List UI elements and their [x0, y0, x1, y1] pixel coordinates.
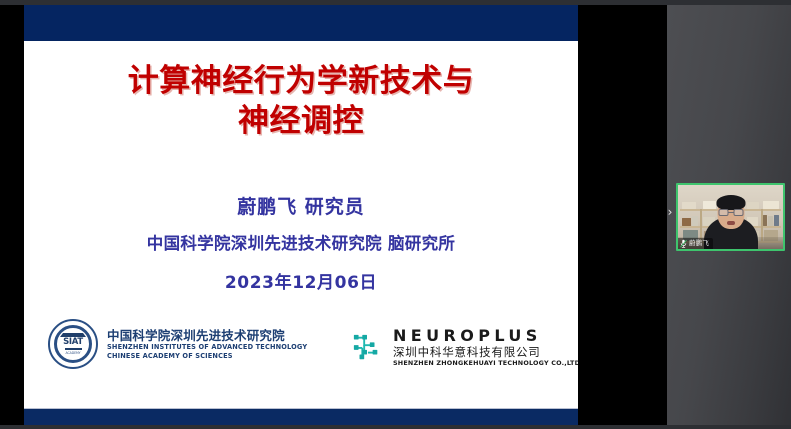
slide-byline: 蔚鹏飞 研究员 中国科学院深圳先进技术研究院 脑研究所 2023年12月06日	[24, 193, 578, 297]
siat-underbar	[65, 348, 82, 350]
neuroplus-name-cn: 深圳中科华意科技有限公司	[393, 345, 578, 359]
siat-logo: SIAT ACADEMY 中国科学院深圳先进技术研究院 SHENZHEN INS…	[48, 319, 307, 369]
neuroplus-name-en: SHENZHEN ZHONGKEHUAYI TECHNOLOGY CO.,LTD…	[393, 359, 578, 367]
siat-seal-icon: SIAT ACADEMY	[48, 319, 98, 369]
meeting-window: 计算神经行为学新技术与 神经调控 蔚鹏飞 研究员 中国科学院深圳先进技术研究院 …	[0, 0, 791, 429]
slide-bottom-band	[24, 409, 578, 425]
participant-video-tile[interactable]: 蔚鹏飞	[676, 183, 785, 251]
shelf-item	[768, 216, 773, 226]
shelf-item	[747, 202, 759, 209]
shelf-item	[682, 218, 691, 226]
slide-date: 2023年12月06日	[24, 269, 578, 297]
collapse-panel-chevron-icon[interactable]: ›	[664, 204, 676, 220]
participant-nameplate: 蔚鹏飞	[678, 238, 713, 249]
siat-acronym: SIAT	[63, 338, 83, 347]
network-nodes-icon	[352, 332, 382, 362]
neuroplus-wordmark: NEUROPLUS	[393, 327, 578, 345]
siat-name-cn: 中国科学院深圳先进技术研究院	[107, 328, 307, 343]
shelf-item	[703, 201, 716, 209]
person-hair	[716, 195, 745, 210]
shelf-item	[763, 215, 767, 226]
glasses-lens-left	[718, 209, 728, 216]
slide-affiliation: 中国科学院深圳先进技术研究院 脑研究所	[24, 229, 578, 259]
siat-name-en-line2: CHINESE ACADEMY OF SCIENCES	[107, 352, 307, 361]
siat-name-en-line1: SHENZHEN INSTITUTES OF ADVANCED TECHNOLO…	[107, 343, 307, 352]
slide-logo-row: SIAT ACADEMY 中国科学院深圳先进技术研究院 SHENZHEN INS…	[24, 317, 578, 377]
shelf-item	[774, 215, 779, 226]
shelf-item	[682, 202, 696, 209]
glasses-lens-right	[733, 209, 743, 216]
slide-title-line1: 计算神经行为学新技术与	[128, 63, 475, 99]
siat-seal-micro-text: ACADEMY	[66, 351, 81, 355]
siat-seal-core: SIAT ACADEMY	[59, 330, 87, 358]
presentation-slide: 计算神经行为学新技术与 神经调控 蔚鹏飞 研究员 中国科学院深圳先进技术研究院 …	[24, 5, 578, 425]
shelf-item	[763, 201, 779, 209]
slide-title: 计算神经行为学新技术与 神经调控	[24, 61, 578, 141]
neuroplus-logo-text: NEUROPLUS 深圳中科华意科技有限公司 SHENZHEN ZHONGKEH…	[393, 327, 578, 367]
person-glasses	[718, 209, 743, 216]
shared-screen-stage[interactable]: 计算神经行为学新技术与 神经调控 蔚鹏飞 研究员 中国科学院深圳先进技术研究院 …	[0, 5, 667, 425]
participant-name-label: 蔚鹏飞	[689, 239, 709, 248]
person-mouth	[727, 221, 735, 225]
neuroplus-logo: NEUROPLUS 深圳中科华意科技有限公司 SHENZHEN ZHONGKEH…	[352, 327, 578, 367]
slide-title-line2: 神经调控	[24, 101, 578, 141]
slide-top-band	[24, 5, 578, 41]
siat-logo-text: 中国科学院深圳先进技术研究院 SHENZHEN INSTITUTES OF AD…	[107, 328, 307, 361]
window-bottom-chrome	[0, 425, 791, 429]
shelf-item	[692, 216, 698, 226]
microphone-icon	[680, 239, 687, 248]
slide-presenter: 蔚鹏飞 研究员	[24, 193, 578, 221]
